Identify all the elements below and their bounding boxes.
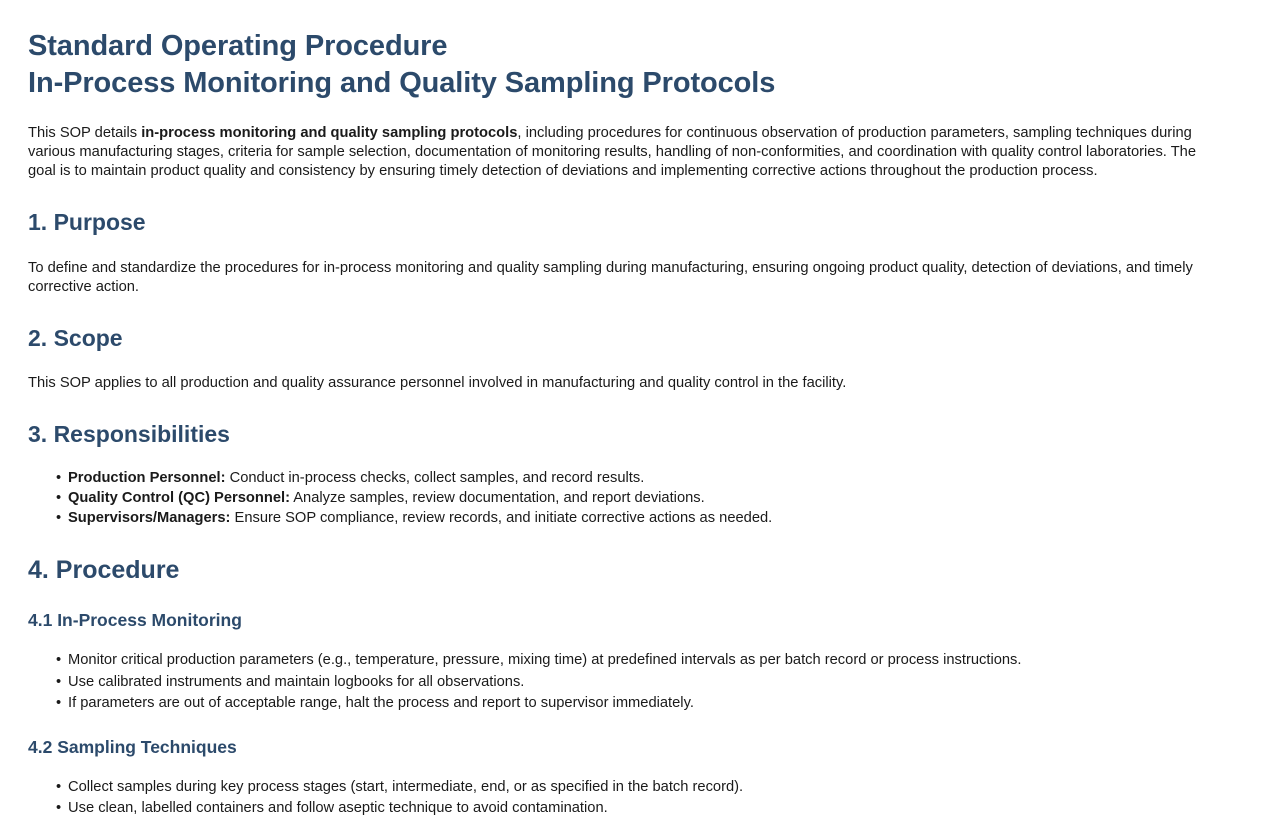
list-item: Quality Control (QC) Personnel: Analyze …	[68, 489, 1223, 507]
page-title: Standard Operating Procedure In-Process …	[28, 28, 1223, 102]
section-heading-responsibilities: 3. Responsibilities	[28, 421, 1223, 449]
responsibility-role: Quality Control (QC) Personnel:	[68, 490, 290, 506]
purpose-paragraph: To define and standardize the procedures…	[28, 259, 1223, 297]
section-heading-scope: 2. Scope	[28, 325, 1223, 353]
section-heading-purpose: 1. Purpose	[28, 209, 1223, 237]
list-item: Collect samples during key process stage…	[68, 778, 1223, 796]
responsibility-description: Analyze samples, review documentation, a…	[290, 490, 705, 506]
document-title-line-1: Standard Operating Procedure	[28, 30, 447, 62]
list-item: Use clean, labelled containers and follo…	[68, 799, 1223, 817]
list-item: If parameters are out of acceptable rang…	[68, 694, 1223, 712]
subsection-heading-in-process-monitoring: 4.1 In-Process Monitoring	[28, 610, 1223, 631]
subsection-heading-sampling-techniques: 4.2 Sampling Techniques	[28, 737, 1223, 758]
responsibility-role: Production Personnel:	[68, 470, 226, 486]
document-title-line-2: In-Process Monitoring and Quality Sampli…	[28, 65, 1223, 102]
list-item: Monitor critical production parameters (…	[68, 651, 1223, 669]
list-item: Supervisors/Managers: Ensure SOP complia…	[68, 509, 1223, 527]
responsibility-description: Conduct in-process checks, collect sampl…	[226, 470, 645, 486]
list-item: Production Personnel: Conduct in-process…	[68, 469, 1223, 487]
document-page: Standard Operating Procedure In-Process …	[0, 0, 1263, 840]
intro-text-before: This SOP details	[28, 125, 141, 141]
responsibility-role: Supervisors/Managers:	[68, 510, 230, 526]
list-item: Use calibrated instruments and maintain …	[68, 673, 1223, 691]
section-heading-procedure: 4. Procedure	[28, 555, 1223, 585]
responsibility-description: Ensure SOP compliance, review records, a…	[230, 510, 772, 526]
in-process-monitoring-list: Monitor critical production parameters (…	[28, 651, 1223, 712]
intro-paragraph: This SOP details in-process monitoring a…	[28, 124, 1218, 181]
intro-bold-phrase: in-process monitoring and quality sampli…	[141, 125, 517, 141]
responsibilities-list: Production Personnel: Conduct in-process…	[28, 469, 1223, 528]
scope-paragraph: This SOP applies to all production and q…	[28, 374, 1223, 393]
